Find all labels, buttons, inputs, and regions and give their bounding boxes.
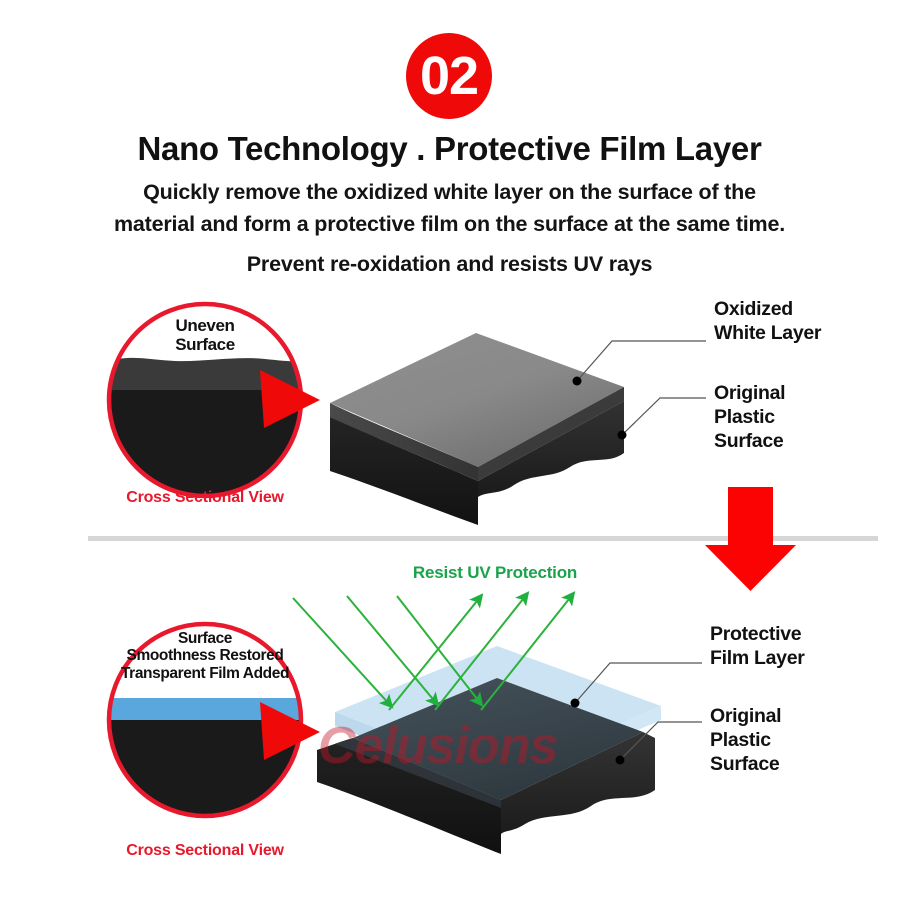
callout-original-plastic-surface-bottom: Original Plastic Surface: [710, 705, 885, 776]
callout-line-1: Protective: [710, 623, 885, 647]
callout-line-1: Original: [710, 705, 885, 729]
uv-arrows-group: [285, 580, 685, 740]
step-number-text: 02: [420, 49, 478, 103]
uv-reflected-arrow-3: [481, 594, 573, 710]
callout-line-2: Plastic: [714, 406, 884, 430]
callout-line-3: Surface: [710, 753, 885, 777]
callout-oxidized-white-layer: Oxidized White Layer: [714, 298, 884, 346]
callout-line-3: Surface: [714, 430, 884, 454]
step-number-badge: 02: [406, 33, 492, 119]
description-line-1: Quickly remove the oxidized white layer …: [0, 180, 899, 205]
callout-line-2: Plastic: [710, 729, 885, 753]
process-down-arrow: [703, 487, 798, 592]
uv-reflected-arrow-2: [435, 594, 527, 710]
red-down-arrow-icon: [703, 487, 798, 592]
uv-incoming-arrow-1: [293, 598, 391, 706]
description-line-3: Prevent re-oxidation and resists UV rays: [0, 252, 899, 277]
callout-line-2: White Layer: [714, 322, 884, 346]
callout-line-2: Film Layer: [710, 647, 885, 671]
oxidized-block-graphic: [318, 325, 658, 525]
uv-arrows-graphic: [285, 580, 685, 740]
callout-protective-film-layer: Protective Film Layer: [710, 623, 885, 671]
callout-line-1: Original: [714, 382, 884, 406]
callout-line-1: Oxidized: [714, 298, 884, 322]
page-title: Nano Technology . Protective Film Layer: [0, 130, 899, 168]
uv-incoming-arrow-2: [347, 596, 437, 704]
oxidized-block-3d: [318, 325, 658, 525]
cross-section-caption-bottom: Cross Sectional View: [95, 842, 315, 860]
cross-section-caption-top: Cross Sectional View: [95, 489, 315, 507]
description-line-2: material and form a protective film on t…: [0, 212, 899, 237]
uv-reflected-arrow-1: [389, 596, 481, 710]
callout-original-plastic-surface-top: Original Plastic Surface: [714, 382, 884, 453]
